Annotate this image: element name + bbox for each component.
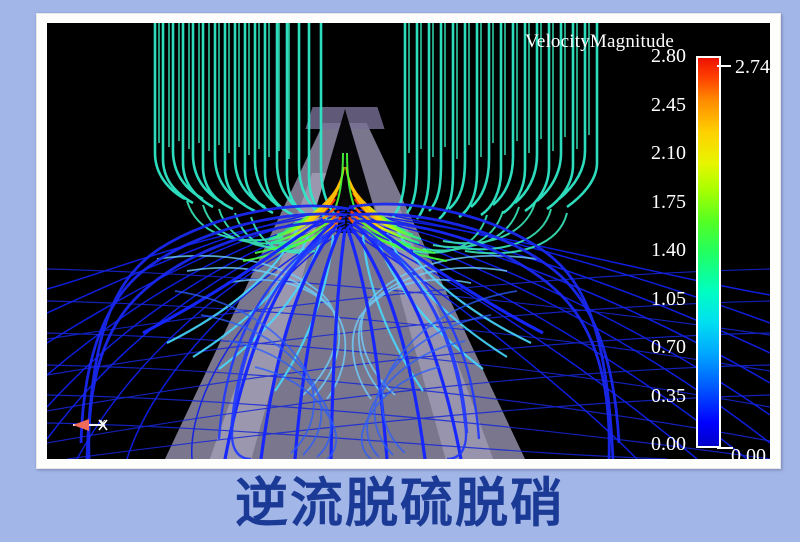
image-frame: VelocityMagnitude 2.802.452.101.751.401.…: [36, 13, 781, 469]
axis-label-x: x: [100, 417, 106, 429]
colorbar-tick-label: 2.45: [624, 95, 686, 115]
colorbar-tick-label: 1.05: [624, 289, 686, 309]
slide-caption: 逆流脱硫脱硝: [0, 472, 800, 536]
colorbar-tick-label: 0.35: [624, 386, 686, 406]
colorbar-tick-label: 2.80: [624, 46, 686, 66]
colorbar-tick-labels: 2.802.452.101.751.401.050.700.350.00: [622, 56, 686, 444]
axis-arrow-icon: [55, 411, 125, 451]
colorbar-tick-label: 0.70: [624, 337, 686, 357]
colorbar-data-max-label: 2.74: [735, 56, 770, 79]
colorbar-tick-label: 2.10: [624, 143, 686, 163]
colorbar-tick-label: 1.40: [624, 240, 686, 260]
colorbar-tick-label: 0.00: [624, 434, 686, 454]
colorbar-tick-label: 1.75: [624, 192, 686, 212]
slide-canvas: VelocityMagnitude 2.802.452.101.751.401.…: [0, 0, 800, 542]
colorbar-data-min-label: 0.00: [731, 445, 766, 459]
cfd-viewport: VelocityMagnitude 2.802.452.101.751.401.…: [47, 23, 770, 459]
colorbar-gradient: [696, 56, 721, 448]
colorbar-tick-max: [717, 65, 731, 67]
axis-orientation-widget: x: [55, 411, 125, 451]
frame-edge-strip: [36, 38, 40, 468]
